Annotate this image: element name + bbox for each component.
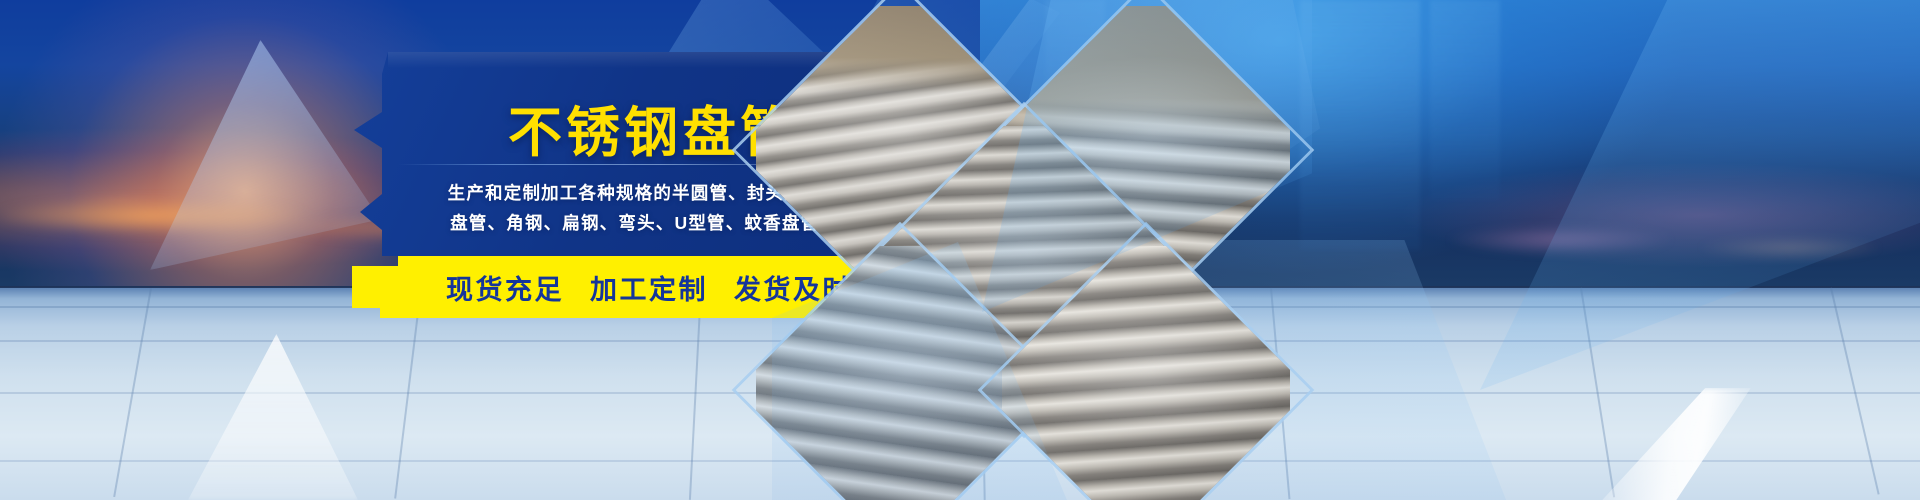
product-photo-collage [832, 0, 1302, 500]
background-tower-b [1430, 0, 1500, 200]
product-hero-banner: 不锈钢盘管 生产和定制加工各种规格的半圆管、封头盘管、 盘管、角钢、扁钢、弯头、… [0, 0, 1920, 500]
tagline-item-1: 现货充足 [446, 268, 564, 307]
background-tower-a [1300, 0, 1420, 250]
tagline-item-2: 加工定制 [590, 268, 708, 307]
